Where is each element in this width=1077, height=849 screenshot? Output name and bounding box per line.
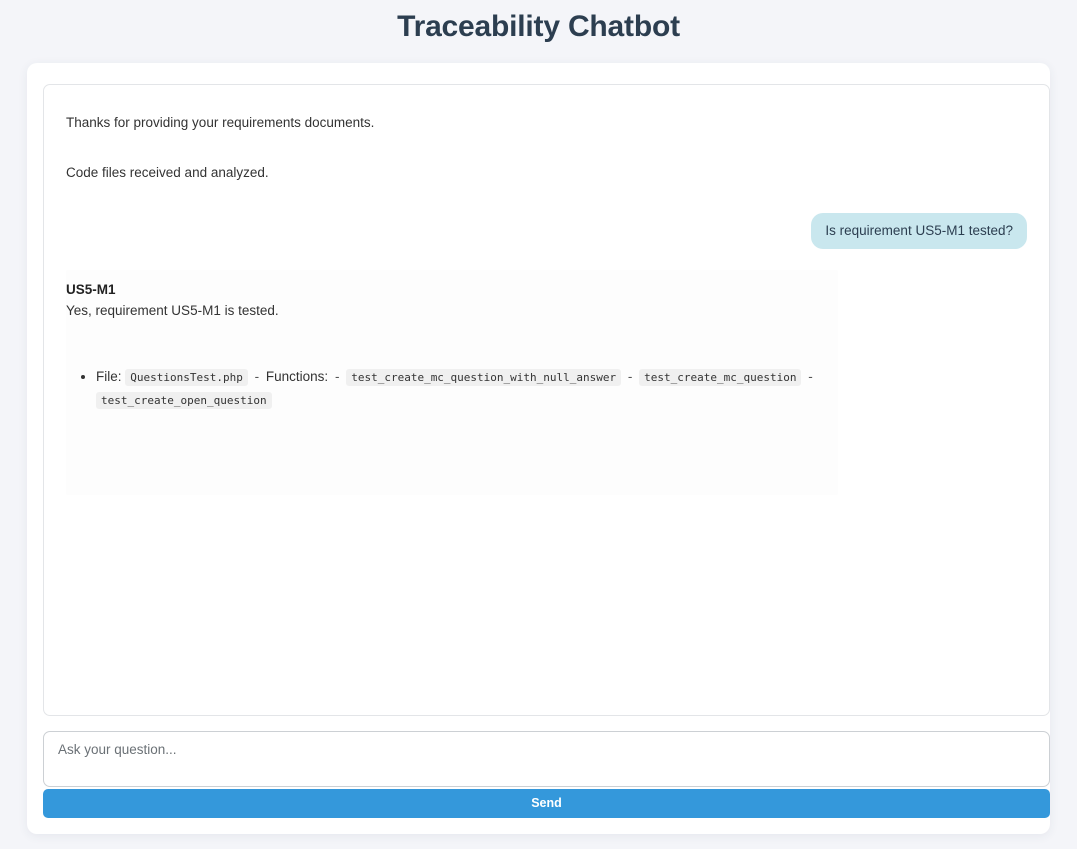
answer-body-text: Yes, requirement US5-M1 is tested. xyxy=(66,301,826,320)
file-name-code: QuestionsTest.php xyxy=(125,369,248,386)
send-button[interactable]: Send xyxy=(43,789,1050,818)
message-list: Thanks for providing your requirements d… xyxy=(66,113,1027,495)
bot-answer-block: US5-M1 Yes, requirement US5-M1 is tested… xyxy=(66,270,838,495)
separator-dash: - xyxy=(805,369,816,384)
list-item: File: QuestionsTest.php - Functions: - t… xyxy=(96,366,826,412)
bot-message: Thanks for providing your requirements d… xyxy=(66,113,1027,133)
separator-dash: - xyxy=(332,369,343,384)
page-title: Traceability Chatbot xyxy=(0,8,1077,46)
separator-dash: - xyxy=(252,369,263,384)
answer-requirement-id: US5-M1 xyxy=(66,280,826,299)
functions-label: Functions: xyxy=(266,369,328,384)
function-name-code: test_create_mc_question_with_null_answer xyxy=(346,369,621,386)
separator-dash: - xyxy=(625,369,636,384)
file-label: File: xyxy=(96,369,122,384)
function-name-code: test_create_open_question xyxy=(96,392,272,409)
composer: Send xyxy=(43,731,1050,818)
user-message-bubble: Is requirement US5-M1 tested? xyxy=(811,213,1027,249)
app-root: Traceability Chatbot Thanks for providin… xyxy=(0,0,1077,849)
answer-evidence-list: File: QuestionsTest.php - Functions: - t… xyxy=(66,366,826,412)
question-input[interactable] xyxy=(43,731,1050,787)
function-name-code: test_create_mc_question xyxy=(639,369,801,386)
user-message-row: Is requirement US5-M1 tested? xyxy=(66,213,1027,249)
chat-message-panel[interactable]: Thanks for providing your requirements d… xyxy=(43,84,1050,716)
bot-message: Code files received and analyzed. xyxy=(66,163,1027,183)
